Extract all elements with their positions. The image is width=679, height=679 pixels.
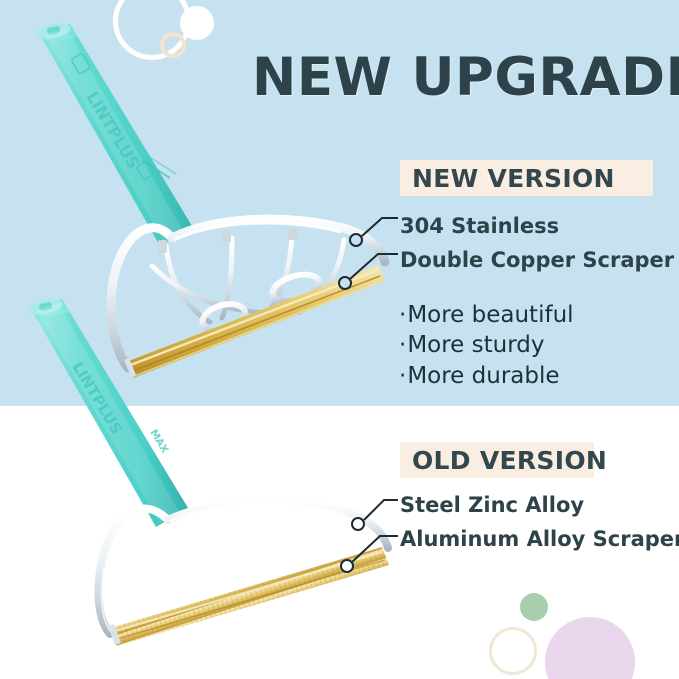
benefit-label: More durable: [407, 363, 559, 389]
benefit-item: ·More durable: [399, 361, 574, 391]
new-version-callout-scraper: Double Copper Scraper: [400, 248, 674, 272]
new-version-banner: NEW VERSION: [400, 160, 653, 196]
new-version-callout-material: 304 Stainless: [400, 214, 559, 238]
new-version-benefit-list: ·More beautiful ·More sturdy ·More durab…: [399, 300, 574, 391]
bullet-marker: ·: [399, 332, 406, 358]
bullet-marker: ·: [399, 302, 406, 328]
old-version-banner: OLD VERSION: [400, 442, 594, 478]
benefit-label: More beautiful: [407, 302, 573, 328]
old-version-tool: LINTPLUS MAX: [28, 297, 389, 646]
old-version-callout-scraper: Aluminum Alloy Scraper: [400, 527, 679, 551]
old-tool-handle: LINTPLUS MAX: [28, 297, 188, 527]
benefit-item: ·More beautiful: [399, 300, 574, 330]
poster-canvas: LINTPLUS: [0, 0, 679, 679]
page-title: NEW UPGRADE: [252, 47, 679, 108]
benefit-item: ·More sturdy: [399, 330, 574, 360]
old-version-callout-material: Steel Zinc Alloy: [400, 493, 584, 517]
bullet-marker: ·: [399, 363, 406, 389]
new-tool-handle: LINTPLUS: [36, 21, 192, 246]
old-version-banner-label: OLD VERSION: [412, 446, 607, 475]
benefit-label: More sturdy: [407, 332, 544, 358]
new-version-banner-label: NEW VERSION: [412, 164, 615, 193]
